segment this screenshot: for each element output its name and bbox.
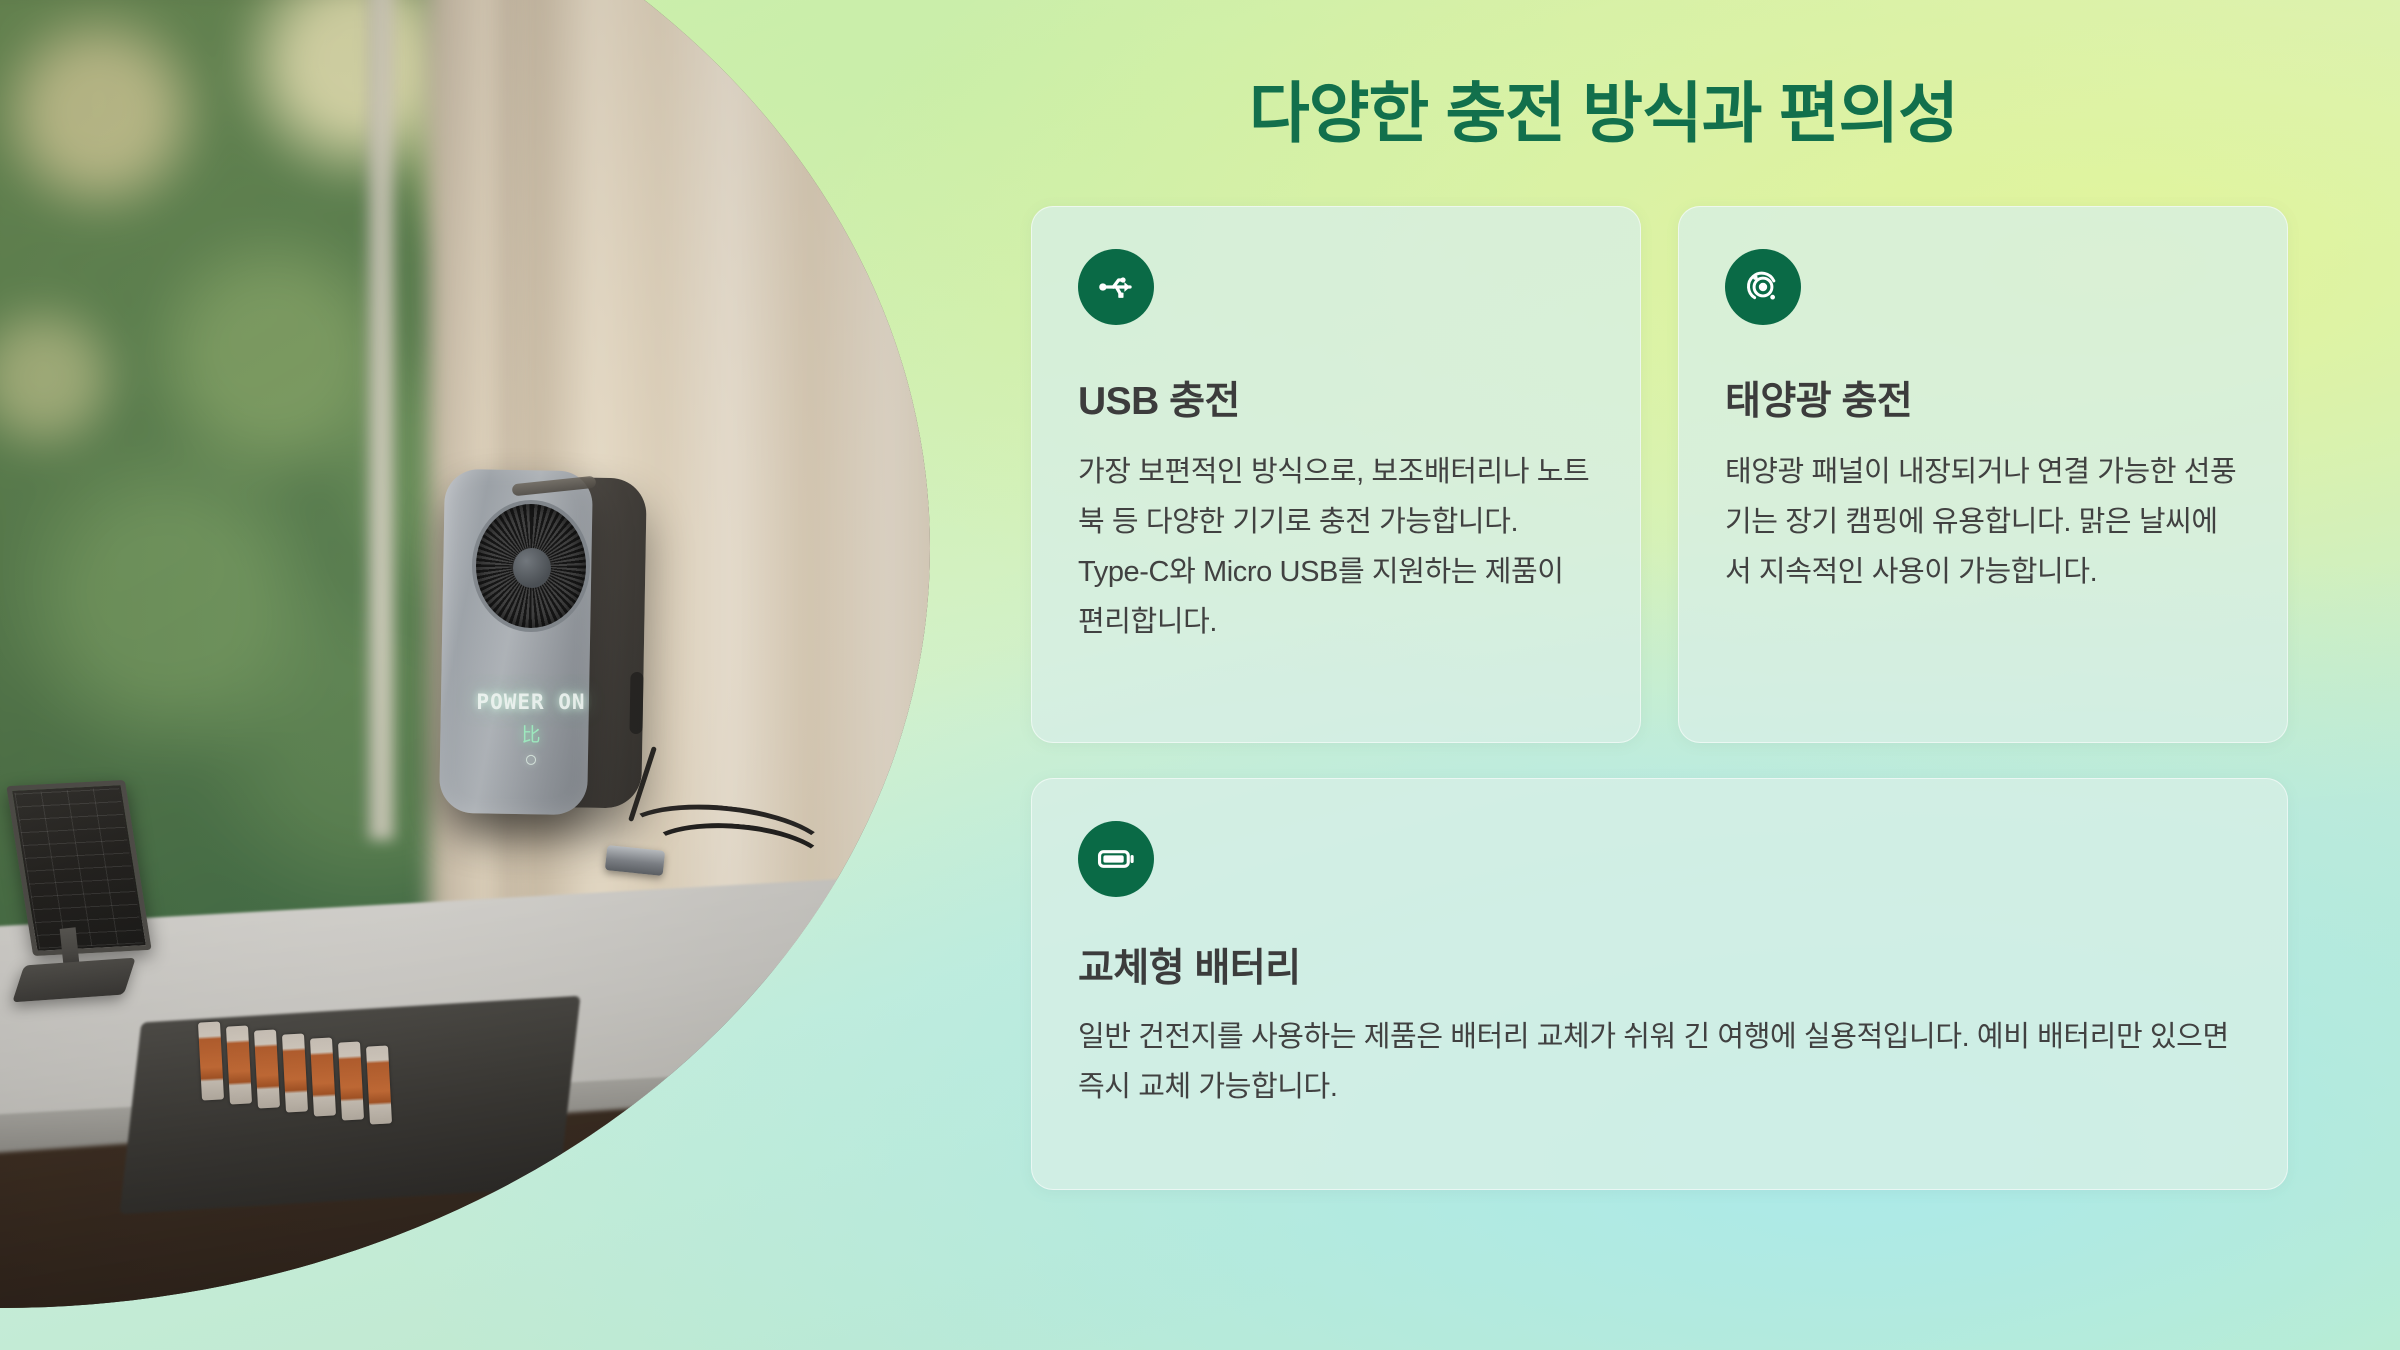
battery-cell [282,1033,308,1112]
battery-cell [310,1037,336,1116]
usb-icon [1095,266,1137,308]
usb-icon-badge [1078,249,1154,325]
page-title: 다양한 충전 방식과 편의성 [935,60,2272,156]
feature-cards-grid: USB 충전 가장 보편적인 방식으로, 보조배터리나 노트북 등 다양한 기기… [1031,206,2288,1190]
slide-canvas: POWER ON 比 ◯ 다양한 충전 방식과 편의성 [0,0,2400,1350]
battery-cell [226,1025,252,1104]
fan-power-icon: ◯ [470,749,592,768]
feature-card-solar[interactable]: 태양광 충전 태양광 패널이 내장되거나 연결 가능한 선풍기는 장기 캠핑에 … [1678,206,2288,743]
card-body: 일반 건전지를 사용하는 제품은 배터리 교체가 쉬워 긴 여행에 실용적입니다… [1078,1013,2241,1113]
card-body: 가장 보편적인 방식으로, 보조배터리나 노트북 등 다양한 기기로 충전 가능… [1078,448,1594,648]
solar-orbit-icon-badge [1725,249,1801,325]
solar-cell-grid [14,787,143,949]
feature-card-battery[interactable]: 교체형 배터리 일반 건전지를 사용하는 제품은 배터리 교체가 쉬워 긴 여행… [1031,778,2288,1190]
card-title: USB 충전 [1078,370,1594,426]
feature-cards-row: USB 충전 가장 보편적인 방식으로, 보조배터리나 노트북 등 다양한 기기… [1031,206,2288,743]
fan-hub [513,548,551,588]
battery-cell [338,1041,364,1120]
content-area: 다양한 충전 방식과 편의성 [935,0,2400,1350]
product-photo: POWER ON 比 ◯ [0,0,935,1350]
power-on-label: POWER ON [470,690,592,714]
card-title: 교체형 배터리 [1078,937,2241,993]
battery-icon [1095,838,1137,880]
battery-cell [366,1045,392,1124]
battery-cell [198,1021,224,1100]
window-mullion [368,0,394,840]
fan-mode-indicator: 比 [470,720,592,747]
product-photo-panel: POWER ON 比 ◯ [0,0,935,1350]
fan-led-display: POWER ON 比 ◯ [470,690,592,764]
fan-charging-port [629,672,643,734]
battery-cell [254,1029,280,1108]
card-title: 태양광 충전 [1725,370,2241,426]
feature-card-usb[interactable]: USB 충전 가장 보편적인 방식으로, 보조배터리나 노트북 등 다양한 기기… [1031,206,1641,743]
solar-orbit-icon [1742,266,1784,308]
battery-icon-badge [1078,821,1154,897]
card-body: 태양광 패널이 내장되거나 연결 가능한 선풍기는 장기 캠핑에 유용합니다. … [1725,448,2241,598]
